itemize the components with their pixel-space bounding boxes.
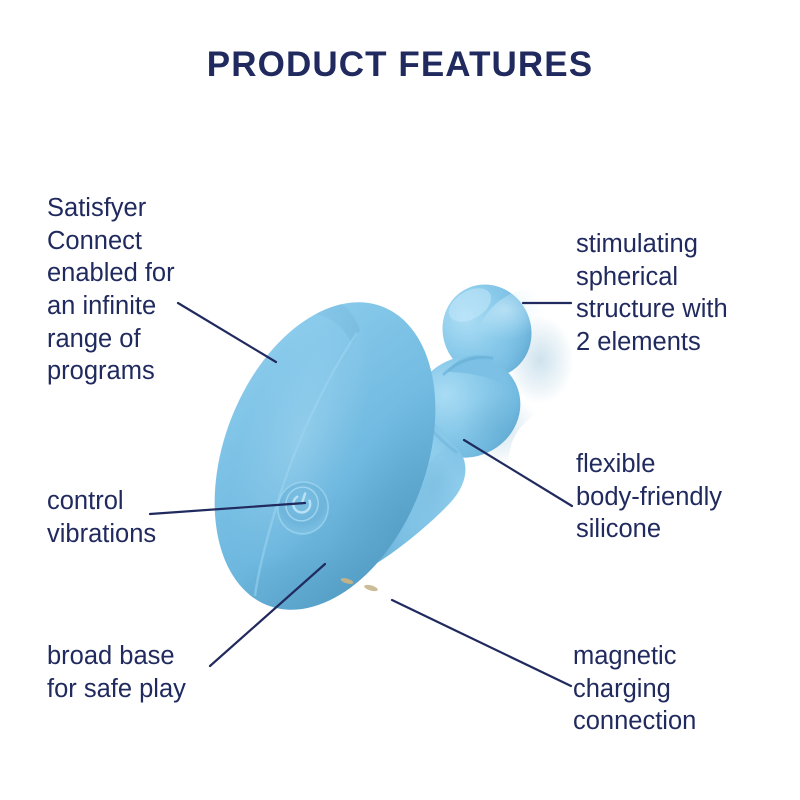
product-features-page: PRODUCT FEATURES — [0, 0, 800, 800]
leader-line-silicone — [464, 440, 572, 506]
callout-spherical-structure: stimulating spherical structure with 2 e… — [576, 228, 791, 359]
callout-satisfyer-connect: Satisfyer Connect enabled for an infinit… — [47, 192, 257, 388]
callout-control-vibrations: control vibrations — [47, 485, 247, 550]
leader-line-magnetic — [392, 600, 571, 686]
charging-pin-right — [364, 584, 379, 593]
callout-magnetic-charging: magnetic charging connection — [573, 640, 793, 738]
callout-broad-base: broad base for safe play — [47, 640, 277, 705]
callout-flexible-silicone: flexible body-friendly silicone — [576, 448, 791, 546]
